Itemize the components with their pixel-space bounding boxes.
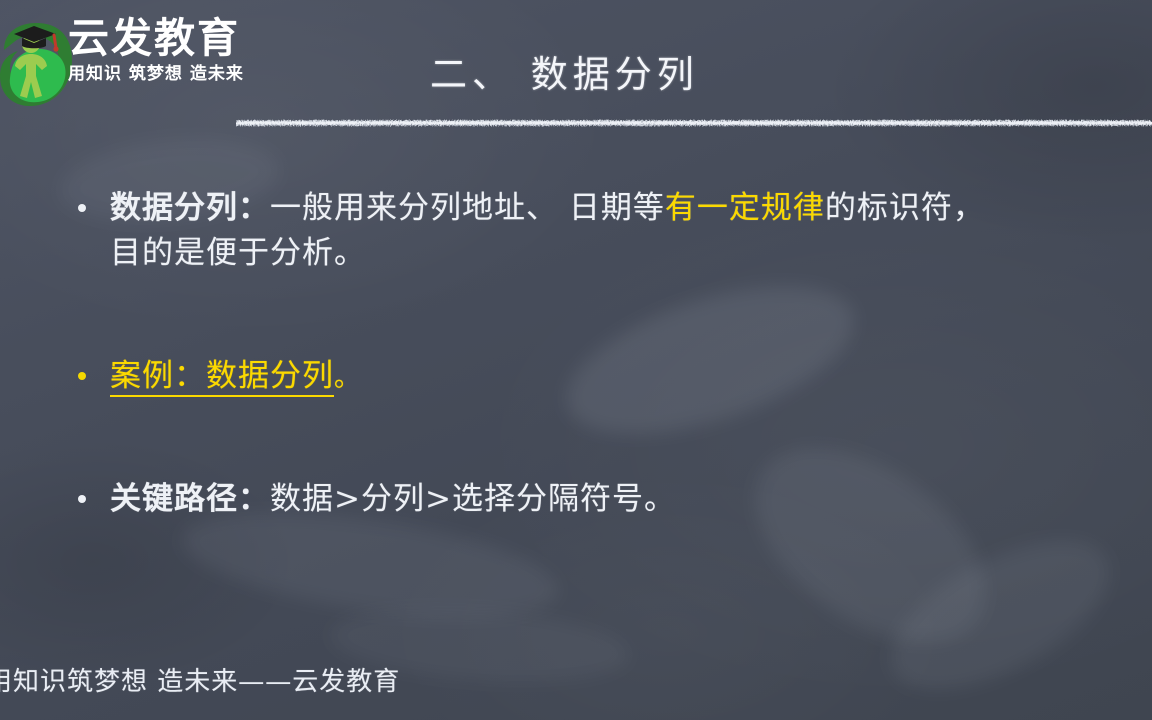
chalk-divider: [236, 118, 1152, 129]
bullet-item-3: 关键路径：数据>分列>选择分隔符号。: [78, 477, 1138, 522]
bullet-1-before: 一般用来分列地址、 日期等: [270, 190, 665, 226]
graduation-leaf-icon: [0, 10, 74, 114]
brand-slogan: 用知识 筑梦想 造未来: [68, 66, 298, 83]
bullet-1-highlight: 有一定规律: [665, 190, 825, 226]
brand-name: 云发教育: [68, 18, 298, 59]
bullet-3-text: 关键路径：数据>分列>选择分隔符号。: [78, 477, 1138, 522]
bullet-2-underlined: 案例：数据分列: [110, 358, 334, 397]
bullet-1-colon: ：: [238, 190, 270, 226]
bullet-3-colon: ：: [238, 481, 270, 517]
bullet-1-after: 的标识符，: [825, 190, 985, 226]
slide-root: 云发教育 用知识 筑梦想 造未来 二、 数据分列 数据分列：一般用来分列地址、 …: [0, 0, 1152, 720]
bullet-marker-icon: [78, 204, 86, 212]
chalk-smudge: [868, 510, 1132, 720]
bullet-1-line2: 目的是便于分析。: [110, 235, 366, 271]
brand-logo: 云发教育 用知识 筑梦想 造未来: [0, 6, 300, 118]
slide-body: 数据分列：一般用来分列地址、 日期等有一定规律的标识符， 目的是便于分析。 案例…: [78, 186, 1138, 522]
bullet-item-2: 案例：数据分列。: [78, 354, 1138, 401]
bullet-marker-icon: [78, 495, 86, 503]
bullet-2-period: 。: [334, 363, 361, 393]
bullet-1-lead: 数据分列: [110, 190, 238, 226]
bullet-marker-icon: [78, 372, 86, 380]
brand-text: 云发教育 用知识 筑梦想 造未来: [68, 18, 298, 83]
bullet-item-1: 数据分列：一般用来分列地址、 日期等有一定规律的标识符， 目的是便于分析。: [78, 186, 1138, 276]
page-title: 二、 数据分列: [430, 44, 699, 98]
bullet-3-lead: 关键路径: [110, 481, 238, 517]
footer-watermark: 用知识筑梦想 造未来——云发教育: [0, 661, 400, 698]
bullet-1-text: 数据分列：一般用来分列地址、 日期等有一定规律的标识符， 目的是便于分析。: [78, 186, 1138, 276]
bullet-2-text: 案例：数据分列。: [78, 354, 1138, 401]
bullet-3-path: 数据>分列>选择分隔符号。: [270, 481, 676, 517]
